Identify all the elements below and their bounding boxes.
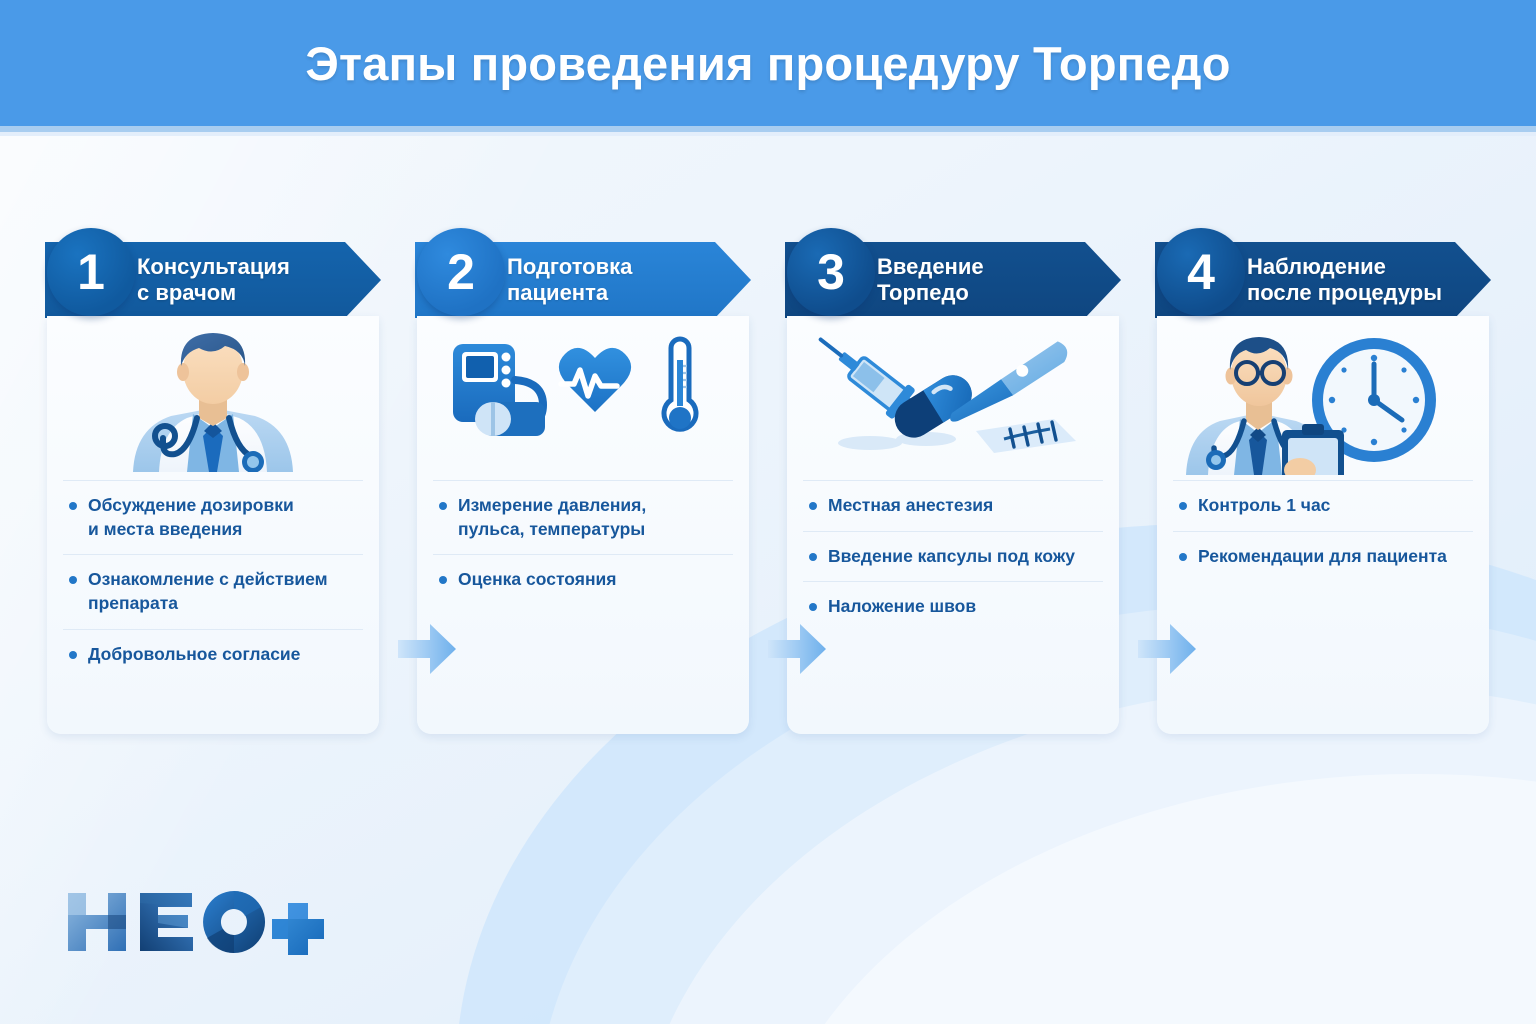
arrow-step1-to-step2 xyxy=(396,620,458,678)
bullet-item[interactable]: Ознакомление с действием препарата xyxy=(63,554,363,628)
step-1-body: Обсуждение дозировки и места введения Оз… xyxy=(47,316,379,734)
page-title: Этапы проведения процедуру Торпедо xyxy=(305,36,1230,91)
bullet-item[interactable]: Контроль 1 час xyxy=(1173,480,1473,531)
bullet-label: Местная анестезия xyxy=(828,494,993,518)
bullet-item[interactable]: Оценка состояния xyxy=(433,554,733,605)
bullet-label: Оценка состояния xyxy=(458,568,617,592)
step-4-number-badge: 4 xyxy=(1157,228,1245,316)
step-2-body: Измерение давления, пульса, температуры … xyxy=(417,316,749,734)
bullet-item[interactable]: Рекомендации для пациента xyxy=(1173,531,1473,582)
step-card-3[interactable]: Введение Торпедо 3 xyxy=(785,228,1121,740)
bullet-dot-icon xyxy=(439,576,447,584)
bullet-label: Добровольное согласие xyxy=(88,643,300,667)
bullet-item[interactable]: Введение капсулы под кожу xyxy=(803,531,1103,582)
syringe-capsule-scalpel-icon xyxy=(808,327,1098,467)
step-2-illustration xyxy=(417,316,749,478)
doctor-clipboard-clock-icon xyxy=(1178,320,1468,475)
step-card-2[interactable]: Подготовка пациента 2 xyxy=(415,228,751,740)
step-2-bullets: Измерение давления, пульса, температуры … xyxy=(433,480,733,605)
arrow-right-icon xyxy=(766,620,828,678)
bullet-dot-icon xyxy=(69,502,77,510)
arrow-right-icon xyxy=(396,620,458,678)
step-3-number-badge: 3 xyxy=(787,228,875,316)
bullet-label: Контроль 1 час xyxy=(1198,494,1330,518)
step-card-1[interactable]: Консультация с врачом 1 xyxy=(45,228,381,740)
arrow-step3-to-step4 xyxy=(1136,620,1198,678)
step-1-bullets: Обсуждение дозировки и места введения Оз… xyxy=(63,480,363,679)
step-3-bullets: Местная анестезия Введение капсулы под к… xyxy=(803,480,1103,632)
bullet-dot-icon xyxy=(69,651,77,659)
step-3-illustration xyxy=(787,316,1119,478)
neo-plus-logo xyxy=(62,883,337,961)
step-3-title: Введение Торпедо xyxy=(877,254,1002,306)
step-1-number-badge: 1 xyxy=(47,228,135,316)
bullet-item[interactable]: Наложение швов xyxy=(803,581,1103,632)
bullet-label: Рекомендации для пациента xyxy=(1198,545,1447,569)
doctor-stethoscope-icon xyxy=(113,322,313,472)
arrow-step2-to-step3 xyxy=(766,620,828,678)
vitals-monitor-heart-thermometer-icon xyxy=(443,332,723,462)
step-4-title: Наблюдение после процедуры xyxy=(1247,254,1460,306)
bullet-label: Измерение давления, пульса, температуры xyxy=(458,494,646,541)
bullet-item[interactable]: Местная анестезия xyxy=(803,480,1103,531)
bullet-dot-icon xyxy=(809,553,817,561)
page-header: Этапы проведения процедуру Торпедо xyxy=(0,0,1536,126)
step-4-bullets: Контроль 1 час Рекомендации для пациента xyxy=(1173,480,1473,581)
bullet-item[interactable]: Добровольное согласие xyxy=(63,629,363,680)
bullet-label: Обсуждение дозировки и места введения xyxy=(88,494,294,541)
bullet-dot-icon xyxy=(69,576,77,584)
step-2-title: Подготовка пациента xyxy=(507,254,650,306)
bullet-item[interactable]: Измерение давления, пульса, температуры xyxy=(433,480,733,554)
step-1-illustration xyxy=(47,316,379,478)
step-4-body: Контроль 1 час Рекомендации для пациента xyxy=(1157,316,1489,734)
bullet-dot-icon xyxy=(809,502,817,510)
bullet-dot-icon xyxy=(439,502,447,510)
step-card-4[interactable]: Наблюдение после процедуры 4 xyxy=(1155,228,1491,740)
bullet-dot-icon xyxy=(809,603,817,611)
bullet-dot-icon xyxy=(1179,502,1187,510)
bullet-label: Введение капсулы под кожу xyxy=(828,545,1075,569)
step-2-number-badge: 2 xyxy=(417,228,505,316)
bullet-dot-icon xyxy=(1179,553,1187,561)
step-1-title: Консультация с врачом xyxy=(137,254,308,306)
header-accent-stripe-secondary xyxy=(0,132,1536,136)
step-4-illustration xyxy=(1157,316,1489,478)
arrow-right-icon xyxy=(1136,620,1198,678)
step-3-body: Местная анестезия Введение капсулы под к… xyxy=(787,316,1119,734)
steps-container: Консультация с врачом 1 xyxy=(45,228,1495,748)
brand-logo[interactable] xyxy=(62,883,337,966)
background-curve-inner xyxy=(756,774,1536,1024)
bullet-label: Наложение швов xyxy=(828,595,976,619)
bullet-item[interactable]: Обсуждение дозировки и места введения xyxy=(63,480,363,554)
infographic-canvas: Этапы проведения процедуру Торпедо Консу… xyxy=(0,0,1536,1024)
bullet-label: Ознакомление с действием препарата xyxy=(88,568,328,615)
